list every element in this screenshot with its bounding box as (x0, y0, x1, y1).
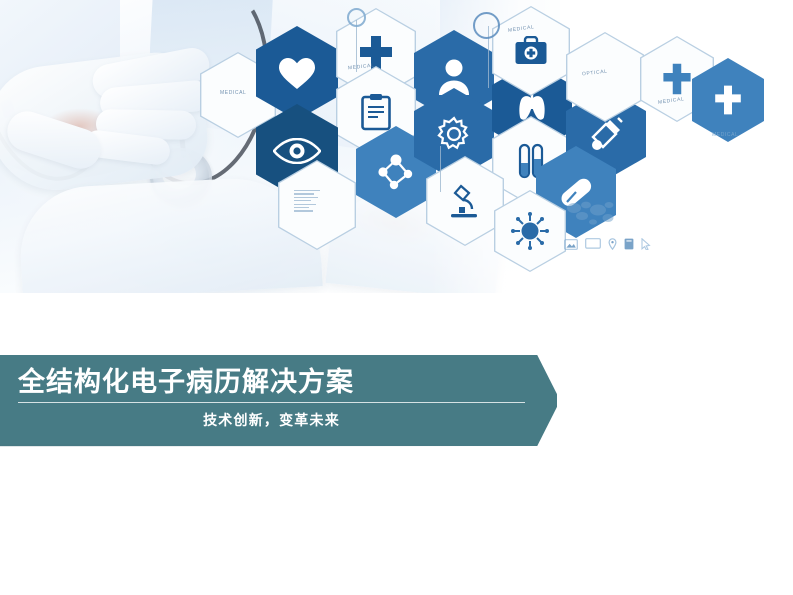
icon-strip (564, 237, 651, 255)
medical-bag-icon (514, 36, 548, 66)
cursor-icon (641, 237, 651, 255)
heart-icon (277, 55, 317, 91)
page-title: 全结构化电子病历解决方案 (18, 365, 354, 399)
banner-divider (18, 402, 525, 403)
virus-icon (511, 212, 549, 250)
hex-label-medical: MEDICAL (712, 132, 738, 138)
globe-icon (564, 196, 620, 235)
pin-icon (608, 237, 617, 255)
title-banner: 全结构化电子病历解决方案 技术创新，变革未来 (0, 355, 557, 446)
presentation-slide: MEDICAL MEDICAL (0, 0, 793, 595)
hex-label-medical: MEDICAL (220, 90, 246, 96)
connector-line (440, 146, 441, 192)
monitor-icon (585, 237, 601, 255)
clipboard-icon (361, 93, 391, 131)
hexagon-network: MEDICAL MEDICAL (196, 4, 666, 274)
banner-shadow (0, 444, 540, 447)
cross-solid-icon (712, 84, 744, 116)
eye-icon (273, 138, 321, 164)
circle-node-icon (347, 8, 366, 27)
image-icon (564, 237, 578, 255)
banner-arrow-tip (505, 355, 557, 446)
hero-section: MEDICAL MEDICAL (0, 0, 793, 293)
page-subtitle: 技术创新，变革未来 (18, 410, 525, 430)
book-icon (624, 237, 634, 255)
microscope-icon (448, 183, 482, 219)
hex-placeholder-text (294, 190, 320, 214)
circle-node-icon (473, 12, 500, 39)
